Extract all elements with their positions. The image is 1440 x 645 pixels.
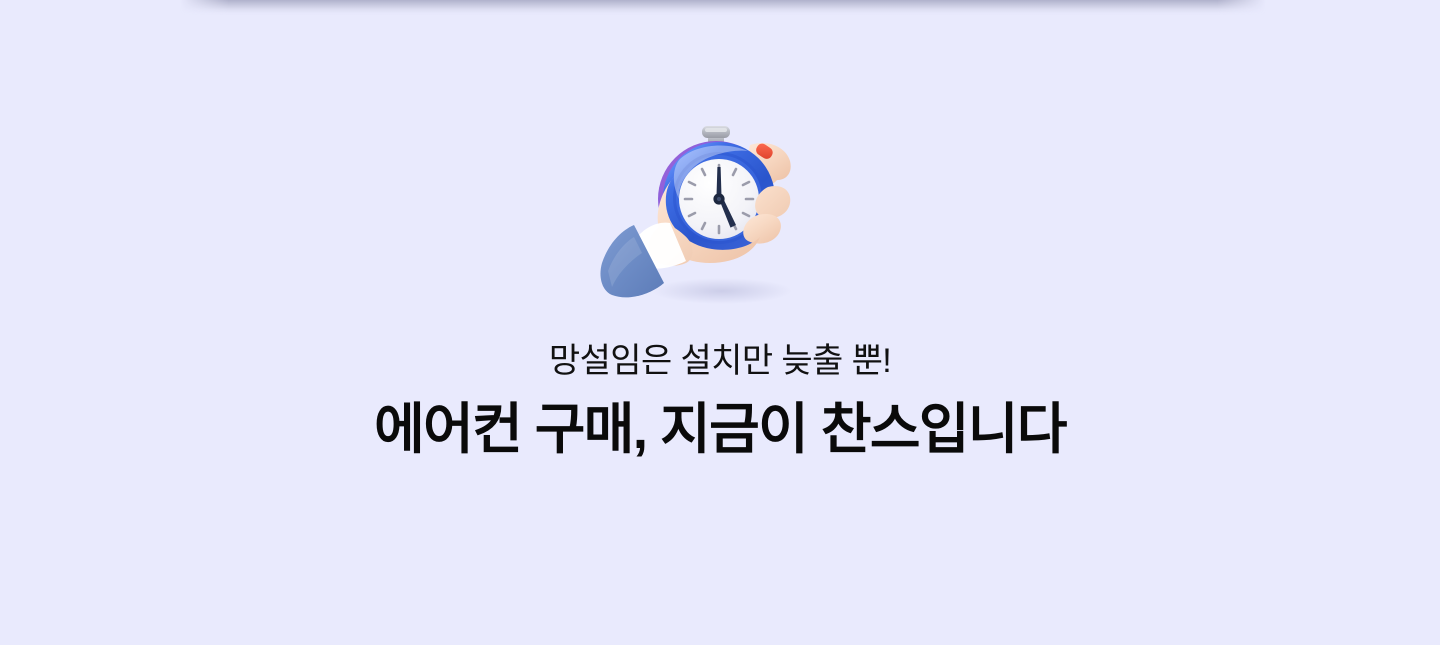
illustration-shadow	[652, 278, 792, 304]
hand-holding-stopwatch-illustration	[600, 121, 840, 311]
scroll-shadow	[180, 0, 1266, 16]
promo-subtitle: 망설임은 설치만 늦출 뿐!	[0, 340, 1440, 384]
promo-copy-block: 망설임은 설치만 늦출 뿐! 에어컨 구매, 지금이 찬스입니다	[0, 340, 1440, 463]
hero-illustration-wrapper	[0, 118, 1440, 313]
promo-banner-section: 망설임은 설치만 늦출 뿐! 에어컨 구매, 지금이 찬스입니다	[0, 0, 1440, 645]
promo-headline: 에어컨 구매, 지금이 찬스입니다	[0, 396, 1440, 463]
